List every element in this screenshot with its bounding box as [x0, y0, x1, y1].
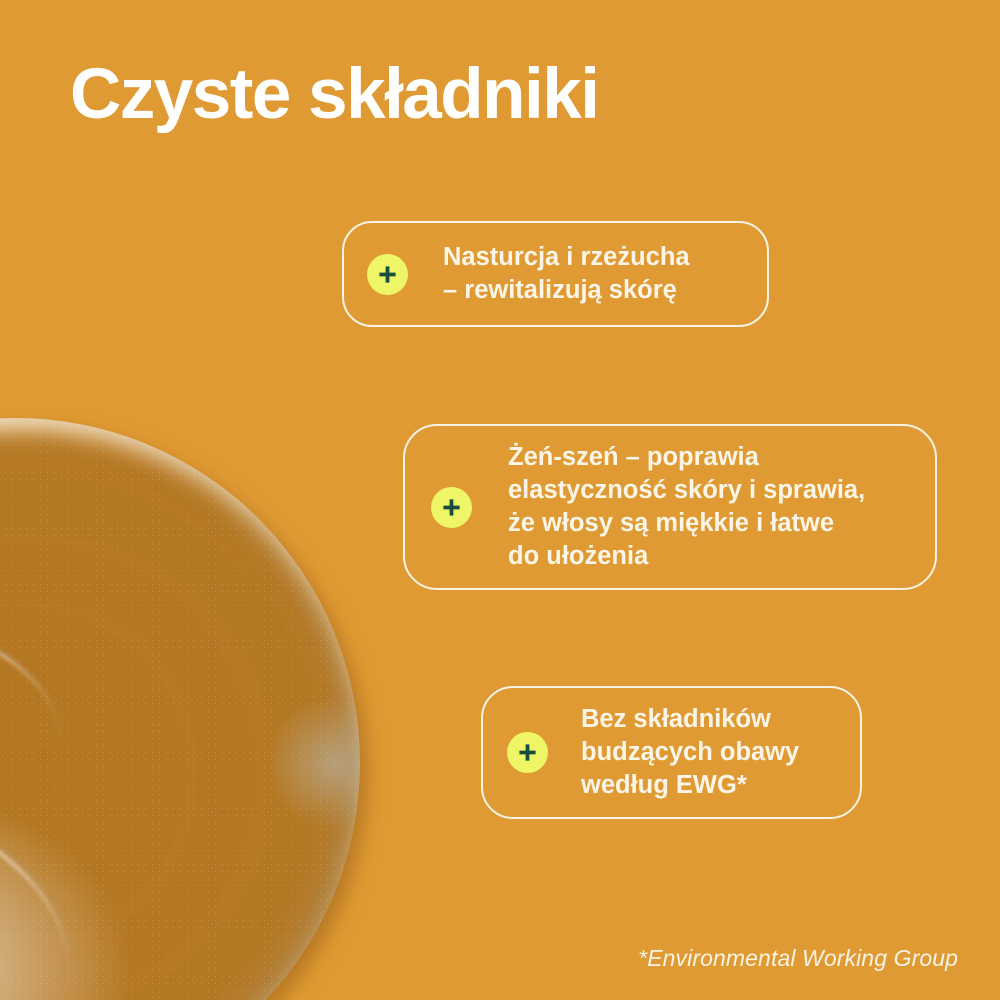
plus-icon	[367, 254, 408, 295]
plus-icon	[431, 487, 472, 528]
footnote: *Environmental Working Group	[638, 945, 958, 972]
feature-callout-2-text: Żeń-szeń – poprawia elastyczność skóry i…	[508, 441, 865, 574]
feature-callout-1: Nasturcja i rzeżucha – rewitalizują skór…	[342, 221, 769, 327]
feature-callout-3-text: Bez składników budzących obawy według EW…	[581, 703, 799, 802]
feature-callout-1-text: Nasturcja i rzeżucha – rewitalizują skór…	[443, 241, 690, 307]
plus-icon	[507, 732, 548, 773]
feature-callout-3: Bez składników budzących obawy według EW…	[481, 686, 862, 819]
feature-callout-2: Żeń-szeń – poprawia elastyczność skóry i…	[403, 424, 937, 590]
petri-dish-image	[0, 418, 360, 1000]
page-title: Czyste składniki	[70, 58, 598, 133]
petri-dish-rim	[0, 418, 360, 1000]
poster-canvas: Czyste składniki Nasturcja i rzeżucha – …	[0, 0, 1000, 1000]
